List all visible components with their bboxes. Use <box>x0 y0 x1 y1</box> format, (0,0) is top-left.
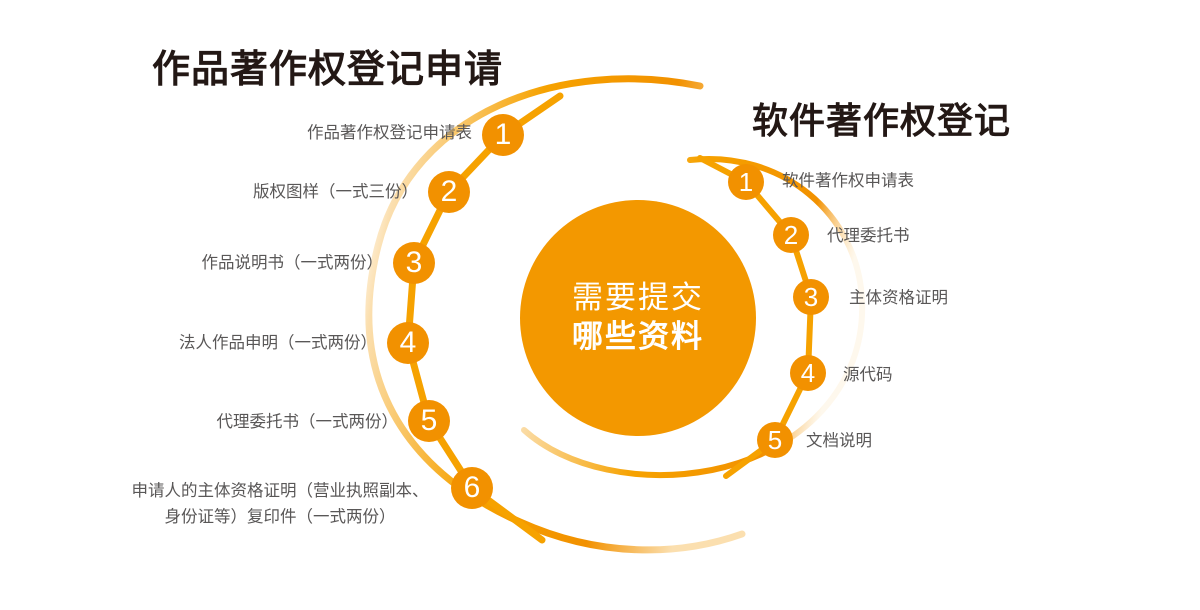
center-hub-line-1: 需要提交 <box>572 279 704 318</box>
right-step-marker-2[interactable]: 2 <box>773 217 809 253</box>
left-step-label-4: 法人作品申明（一式两份） <box>37 330 377 356</box>
center-hub-line-2: 哪些资料 <box>572 318 704 357</box>
left-step-marker-4[interactable]: 4 <box>387 322 429 364</box>
right-group-title: 软件著作权登记 <box>752 92 1011 144</box>
left-step-label-6: 申请人的主体资格证明（营业执照副本、 身份证等）复印件（一式两份） <box>115 478 445 530</box>
left-step-marker-1[interactable]: 1 <box>482 114 524 156</box>
left-step-label-2: 版权图样（一式三份） <box>78 179 418 205</box>
left-step-marker-3[interactable]: 3 <box>393 242 435 284</box>
left-step-label-1: 作品著作权登记申请表 <box>132 120 472 146</box>
left-step-marker-2[interactable]: 2 <box>428 171 470 213</box>
right-step-marker-1[interactable]: 1 <box>728 164 764 200</box>
right-step-marker-5[interactable]: 5 <box>757 422 793 458</box>
right-step-marker-4[interactable]: 4 <box>790 355 826 391</box>
left-step-label-5: 代理委托书（一式两份） <box>58 409 398 435</box>
infographic-canvas: 需要提交 哪些资料 作品著作权登记申请 软件著作权登记 1 2 3 4 5 6 … <box>0 0 1200 610</box>
right-step-label-4: 源代码 <box>843 362 1103 388</box>
right-step-label-1: 软件著作权申请表 <box>782 168 1042 194</box>
right-step-label-2: 代理委托书 <box>827 223 1087 249</box>
right-step-label-5: 文档说明 <box>806 428 1066 454</box>
left-step-marker-5[interactable]: 5 <box>408 400 450 442</box>
right-step-label-3: 主体资格证明 <box>849 285 1109 311</box>
center-hub: 需要提交 哪些资料 <box>520 200 756 436</box>
left-group-title: 作品著作权登记申请 <box>152 38 503 93</box>
left-step-label-3: 作品说明书（一式两份） <box>43 250 383 276</box>
left-step-marker-6[interactable]: 6 <box>451 467 493 509</box>
right-step-marker-3[interactable]: 3 <box>793 279 829 315</box>
